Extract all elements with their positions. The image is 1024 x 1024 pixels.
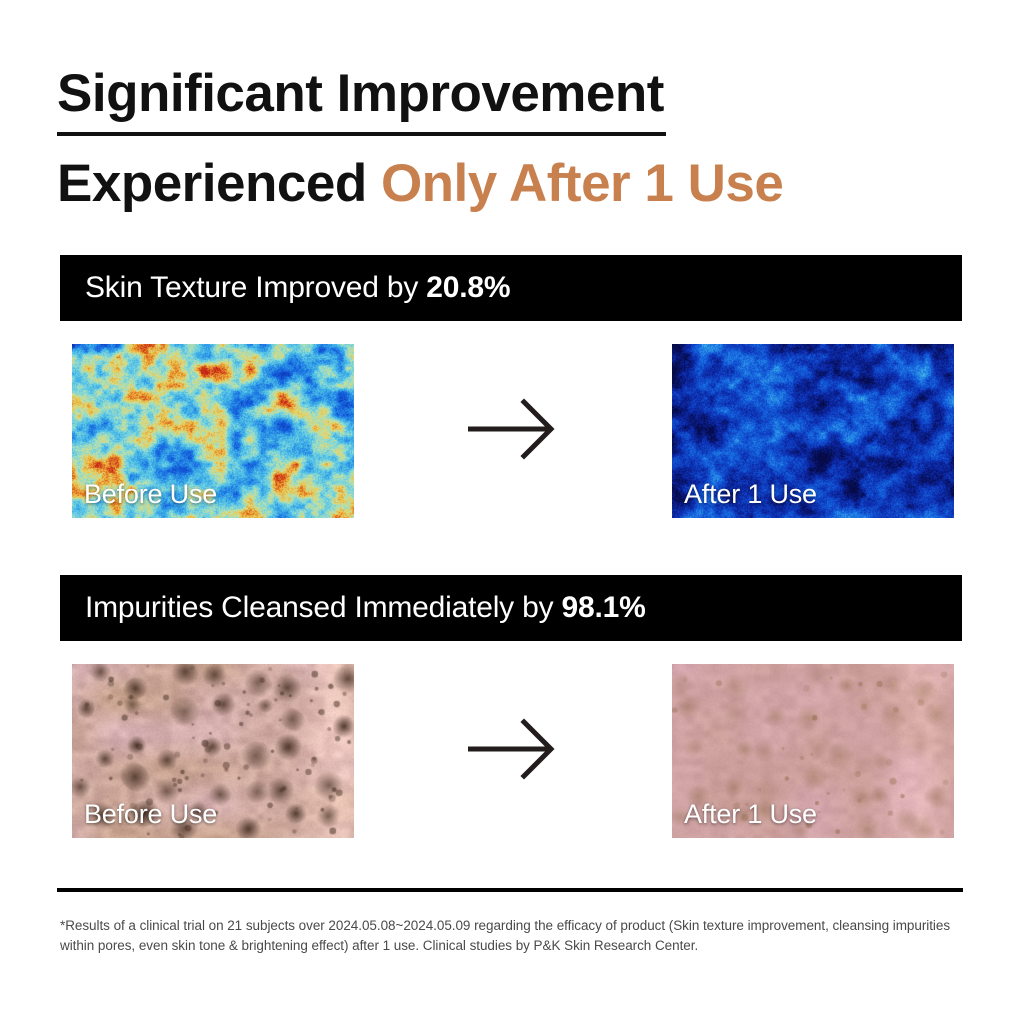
- banner-prefix-texture: Skin Texture Improved by: [85, 271, 426, 304]
- headline-line-2-accent: Only After 1 Use: [381, 154, 783, 213]
- photo-after-impurities: After 1 Use: [672, 664, 954, 838]
- photo-label-before-impurities: Before Use: [84, 799, 217, 830]
- footnote-divider: [57, 888, 963, 892]
- section-banner-texture: Skin Texture Improved by 20.8%: [60, 255, 962, 321]
- photo-before-impurities: Before Use: [72, 664, 354, 838]
- section-banner-impurities: Impurities Cleansed Immediately by 98.1%: [60, 575, 962, 641]
- arrow-right-icon-impurities: [462, 716, 562, 782]
- arrow-right-icon-texture: [462, 396, 562, 462]
- arrow-right-icon: [462, 396, 562, 462]
- photo-before-texture: Before Use: [72, 344, 354, 518]
- banner-prefix-impurities: Impurities Cleansed Immediately by: [85, 591, 562, 624]
- footnote-text: *Results of a clinical trial on 21 subje…: [60, 916, 960, 956]
- comparison-row-impurities: Before Use After 1 Use: [0, 664, 1024, 839]
- banner-value-impurities: 98.1%: [562, 591, 646, 624]
- banner-text-impurities: Impurities Cleansed Immediately by 98.1%: [85, 591, 646, 625]
- photo-label-after-texture: After 1 Use: [684, 479, 817, 510]
- arrow-right-icon: [462, 716, 562, 782]
- headline-row-2: Experienced Only After 1 Use: [57, 148, 977, 220]
- photo-label-after-impurities: After 1 Use: [684, 799, 817, 830]
- infographic-page: Significant Improvement Experienced Only…: [0, 0, 1024, 1024]
- headline-line-2-prefix: Experienced: [57, 154, 381, 213]
- banner-value-texture: 20.8%: [426, 271, 510, 304]
- photo-after-texture: After 1 Use: [672, 344, 954, 518]
- banner-text-texture: Skin Texture Improved by 20.8%: [85, 271, 510, 305]
- photo-label-before-texture: Before Use: [84, 479, 217, 510]
- headline-row-1: Significant Improvement: [57, 58, 977, 136]
- headline-block: Significant Improvement Experienced Only…: [57, 58, 977, 220]
- comparison-row-texture: Before Use After 1 Use: [0, 344, 1024, 519]
- headline-line-1: Significant Improvement: [57, 58, 666, 136]
